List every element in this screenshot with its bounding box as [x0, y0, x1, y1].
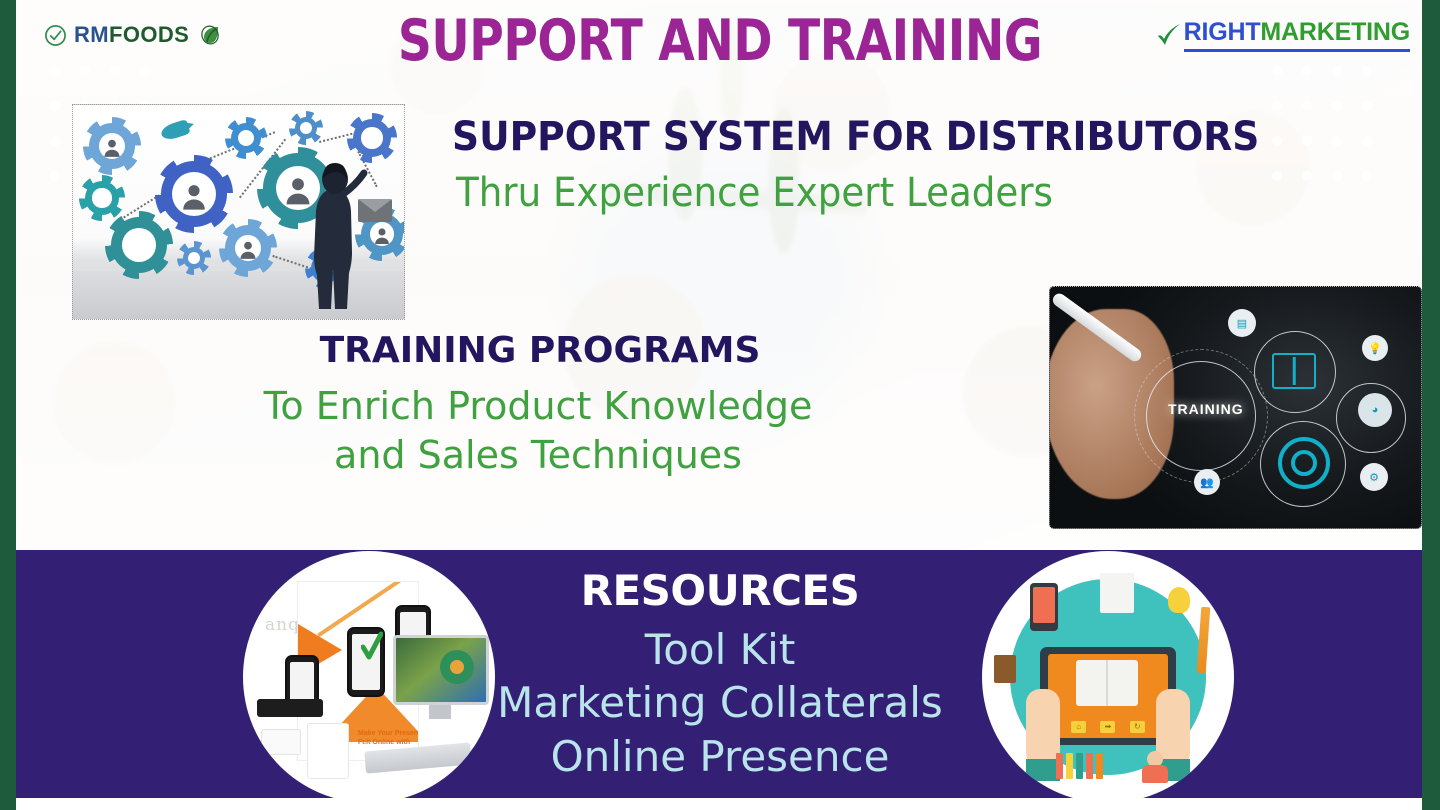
training-subtitle-line-1: To Enrich Product Knowledge — [0, 382, 1076, 431]
support-subtitle: Thru Experience Expert Leaders — [456, 170, 1053, 216]
dot — [1362, 136, 1372, 146]
support-system-image — [72, 104, 405, 320]
training-subtitle-line-2: and Sales Techniques — [0, 431, 1076, 480]
resources-items: Tool Kit Marketing Collaterals Online Pr… — [0, 623, 1440, 783]
right-green-border — [1422, 0, 1440, 810]
dot-grid-right — [1272, 66, 1392, 206]
gear-bell-icon — [111, 217, 167, 273]
dot — [1272, 171, 1282, 181]
dot — [1362, 171, 1372, 181]
rocket-icon — [159, 119, 190, 142]
logo-word-right: RIGHT — [1184, 18, 1261, 46]
resources-heading: RESOURCES — [0, 566, 1440, 615]
dot — [50, 136, 60, 146]
person-silhouette-icon — [179, 181, 209, 211]
gear-small-icon — [231, 123, 261, 153]
dot — [1302, 136, 1312, 146]
person-silhouette-icon — [101, 137, 122, 158]
logo-right-marketing-text: RIGHTMARKETING — [1184, 18, 1410, 52]
resources-item-3: Online Presence — [0, 730, 1440, 783]
dot — [1272, 101, 1282, 111]
person-silhouette-icon — [237, 239, 258, 260]
dot — [50, 101, 60, 111]
checkmark-icon — [1156, 23, 1182, 47]
person-drawing-figure — [308, 161, 372, 311]
training-heading: TRAINING PROGRAMS — [0, 330, 1440, 371]
dot — [1332, 101, 1342, 111]
dot — [1302, 171, 1312, 181]
dot — [1332, 136, 1342, 146]
resources-item-1: Tool Kit — [0, 623, 1440, 676]
band-bottom-strip — [16, 798, 1422, 810]
logo-right-marketing[interactable]: RIGHTMARKETING — [1156, 18, 1410, 52]
gear-small-icon — [183, 247, 205, 269]
gear-person-icon — [89, 123, 135, 169]
dot — [1332, 171, 1342, 181]
gear-person-icon-main — [161, 161, 227, 227]
training-subtitle: To Enrich Product Knowledge and Sales Te… — [0, 382, 1440, 479]
dot — [1362, 101, 1372, 111]
left-green-border — [0, 0, 16, 810]
logo-word-marketing: MARKETING — [1260, 18, 1410, 46]
gear-small-icon — [85, 181, 119, 215]
slide-canvas: RMFOODS SUPPORT AND TRAINING RIGHTMARKET… — [0, 0, 1440, 810]
dot — [1272, 136, 1282, 146]
dot — [1302, 101, 1312, 111]
gear-target-icon — [353, 119, 391, 157]
gear-small-icon — [295, 117, 317, 139]
resources-item-2: Marketing Collaterals — [0, 676, 1440, 729]
gear-person-icon — [225, 225, 271, 271]
dot — [50, 171, 60, 181]
logo-underline — [1184, 49, 1410, 52]
person-silhouette-icon — [372, 226, 391, 245]
support-heading: SUPPORT SYSTEM FOR DISTRIBUTORS — [452, 114, 1259, 160]
